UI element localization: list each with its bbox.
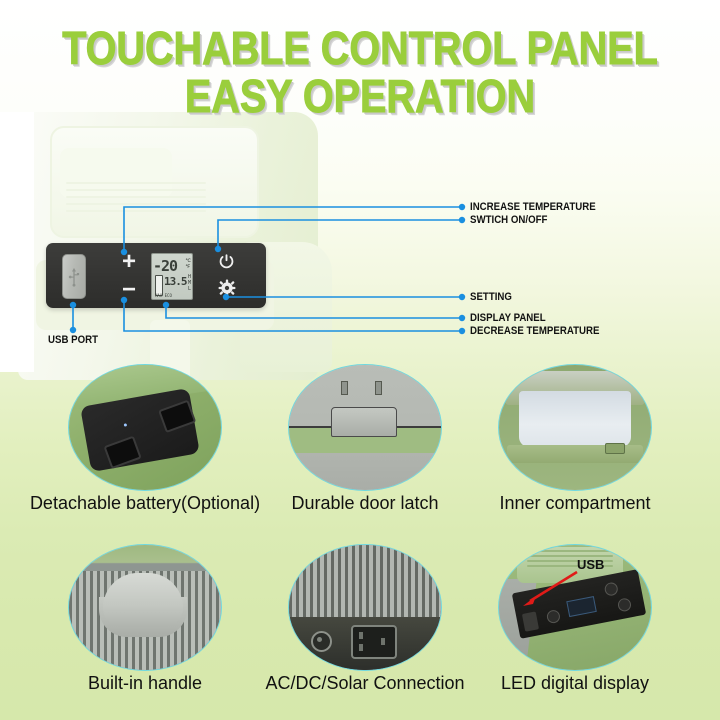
callout-line-increase [124, 207, 462, 252]
infographic-page: TOUCHABLE CONTROL PANEL EASY OPERATION +… [0, 0, 720, 720]
callout-lines [0, 0, 720, 720]
callout-dot-increase [121, 249, 127, 255]
